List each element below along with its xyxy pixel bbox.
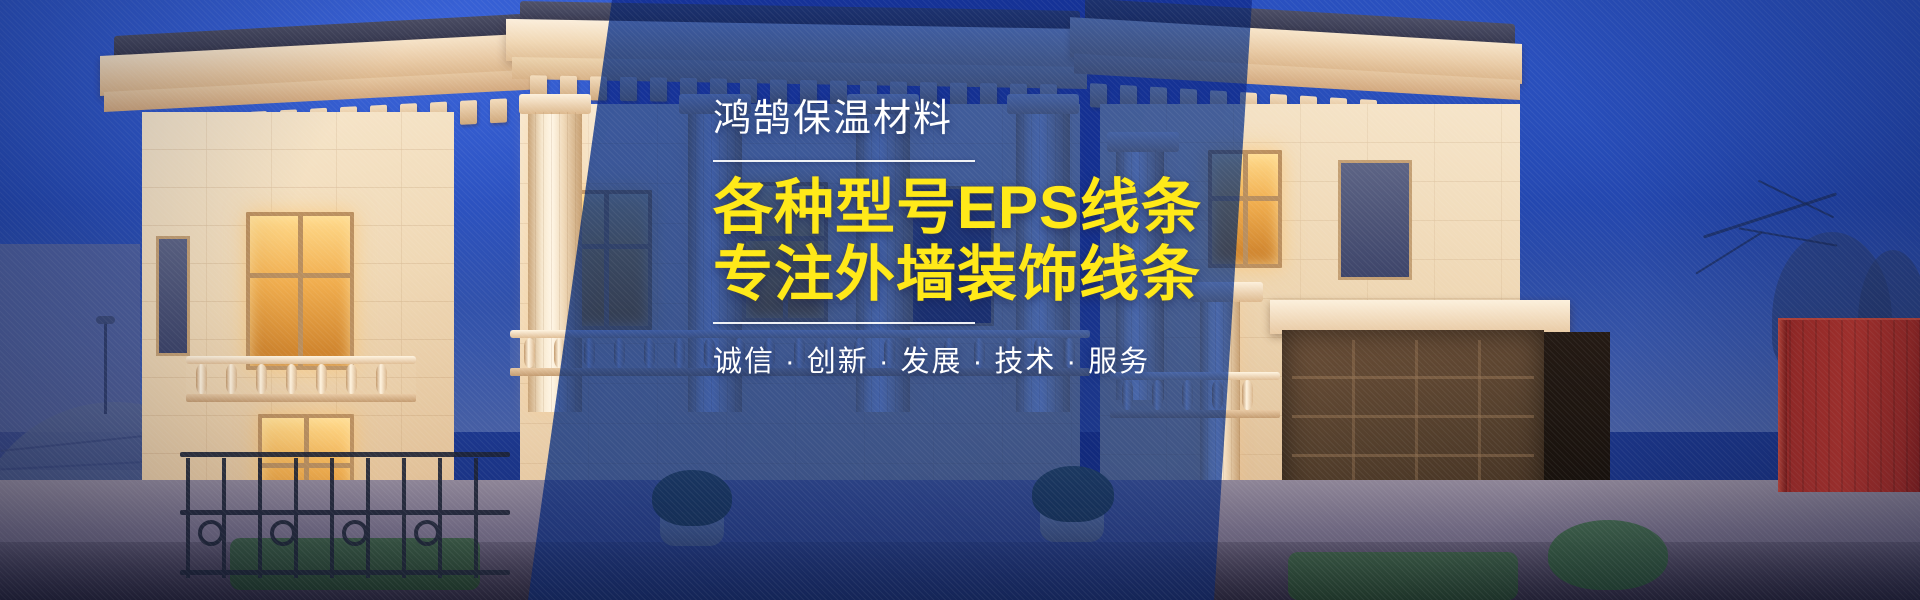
headline-line-1: 各种型号EPS线条 [713,174,1202,241]
window-transom [250,273,350,278]
tagline: 诚信 · 创新 · 发展 · 技术 · 服务 [713,338,1273,380]
lit-window [246,212,354,370]
divider-top [713,160,975,162]
dark-window [1338,160,1412,280]
shipping-container-edge [1778,320,1787,492]
balustrade-rail [186,356,416,364]
promo-banner: 鸿鹄保温材料 各种型号EPS线条 专注外墙装饰线条 诚信 · 创新 · 发展 ·… [0,0,1920,600]
garage-lintel [1270,300,1570,334]
shrub [1548,520,1668,590]
brand-name: 鸿鹄保温材料 [713,96,1273,144]
dentil-block [490,98,507,123]
divider-bottom [713,322,975,324]
hedge [1288,552,1518,600]
side-balustrade [186,356,416,402]
headline: 各种型号EPS线条 专注外墙装饰线条 [713,174,1273,308]
red-shipping-container [1778,320,1920,492]
headline-line-2: 专注外墙装饰线条 [713,241,1273,308]
iron-fence [180,452,510,600]
window-mullion [298,216,303,366]
balustrade-base [186,394,416,402]
dark-window [156,236,190,356]
banner-copy-block: 鸿鹄保温材料 各种型号EPS线条 专注外墙装饰线条 诚信 · 创新 · 发展 ·… [713,96,1273,380]
dentil-block [460,100,477,125]
